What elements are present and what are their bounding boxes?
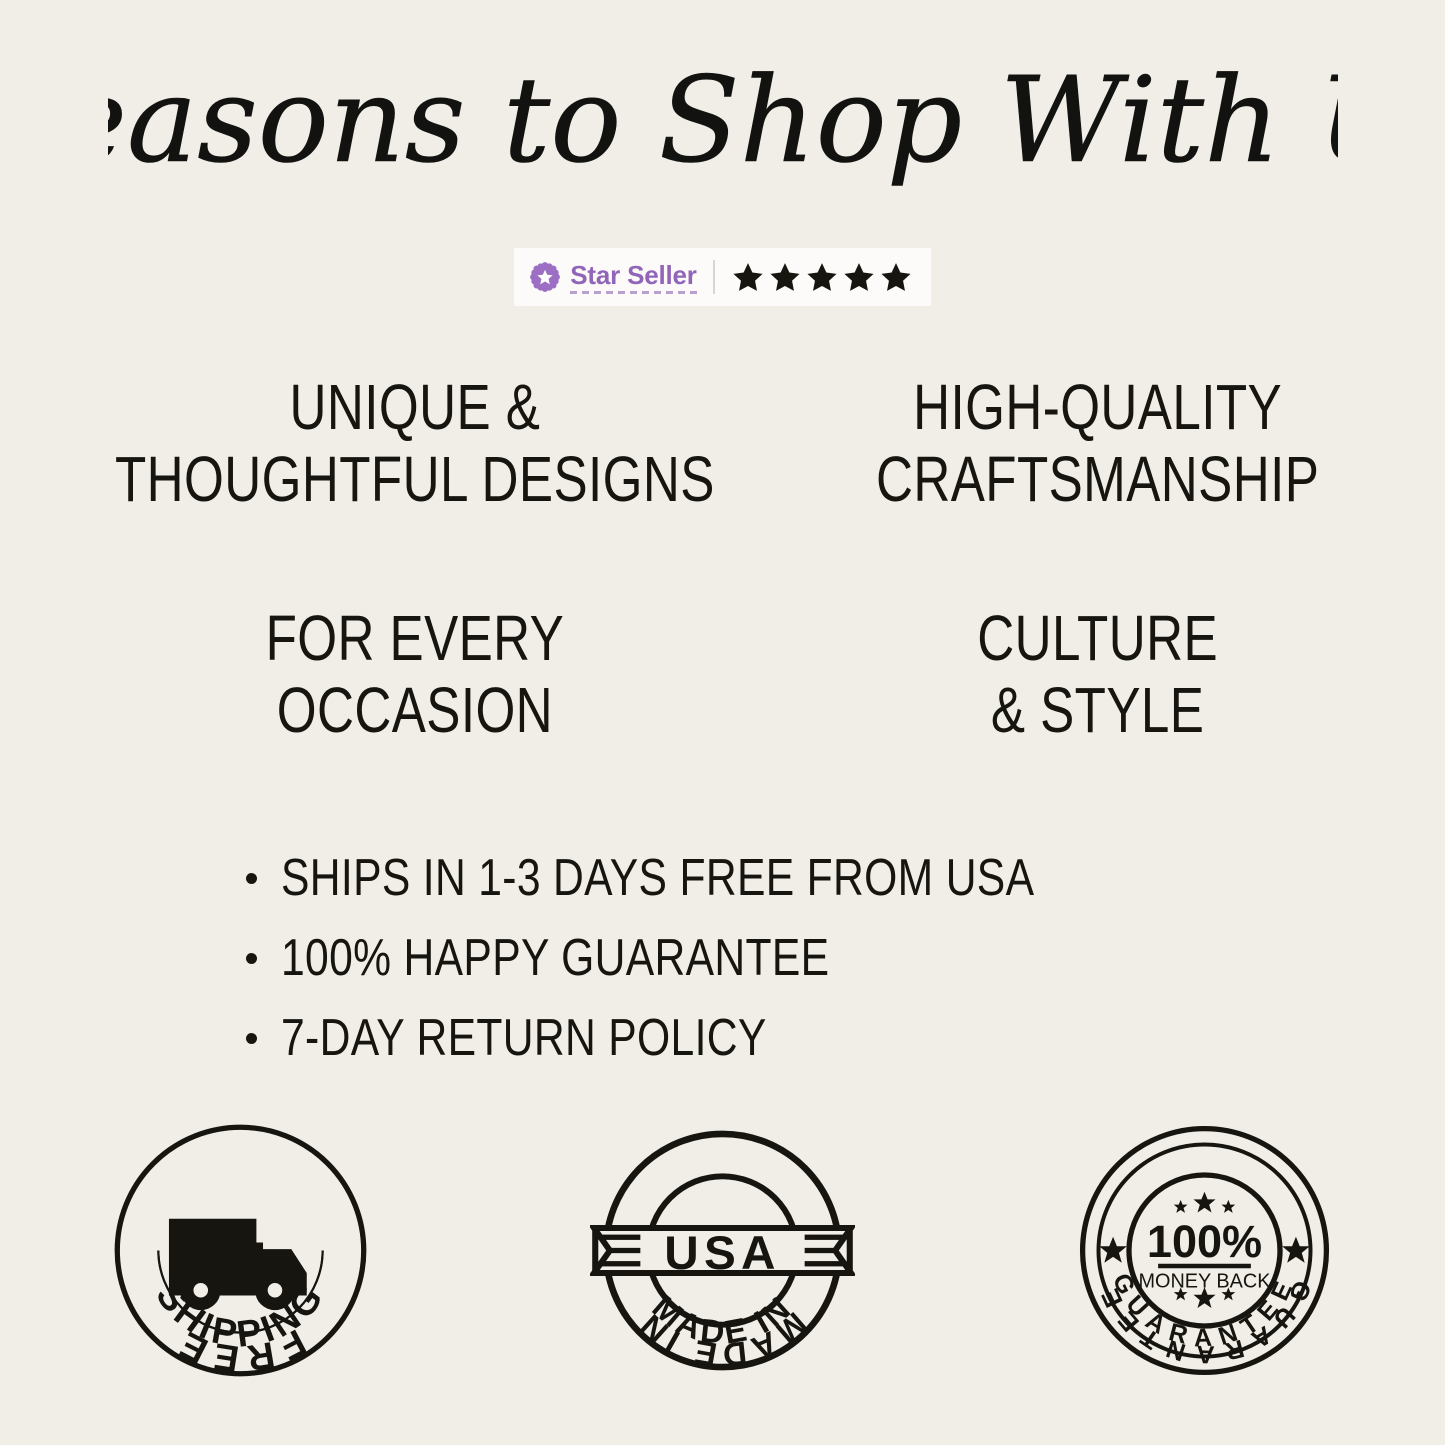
feature-line-2: OCCASION [115,675,715,747]
list-item-label: SHIPS IN 1-3 DAYS FREE FROM USA [281,848,1034,908]
benefits-list-wrap: SHIPS IN 1-3 DAYS FREE FROM USA100% HAPP… [0,848,1445,1068]
list-item: 7-DAY RETURN POLICY [246,1008,1200,1068]
usa-ribbon-label: USA [664,1227,781,1280]
rating-star [879,261,913,293]
rating-star [842,261,876,293]
star-seller-label-group: Star Seller [530,262,712,292]
made-in-usa-seal: MADE IN MADE IN USA [590,1118,855,1383]
trust-seals-row: FREE SHIPPING MADE IN MADE IN [0,1118,1445,1383]
rating-star [768,261,802,293]
rating-star [805,261,839,293]
feature-item: FOR EVERYOCCASION [115,603,715,746]
feature-item: HIGH-QUALITYCRAFTSMANSHIP [851,372,1343,515]
list-item-label: 100% HAPPY GUARANTEE [281,928,829,988]
delivery-truck-icon [169,1219,307,1310]
guarantee-rule [1158,1264,1251,1269]
usa-ribbon: USA [594,1227,851,1280]
guarantee-percent: 100% [1147,1216,1262,1267]
feature-line-2: THOUGHTFUL DESIGNS [115,444,715,516]
bullet-dot [246,1033,257,1044]
list-item: SHIPS IN 1-3 DAYS FREE FROM USA [246,848,1200,908]
list-item: 100% HAPPY GUARANTEE [246,928,1200,988]
star-seller-badge-strip: Star Seller [0,248,1445,306]
rating-stars [715,261,931,293]
made-in-usa-seal-slot: MADE IN MADE IN USA [572,1118,872,1383]
page-title: Reasons to Shop With Us [0,28,1445,218]
page-title-text: Reasons to Shop With Us [108,51,1338,189]
list-item-label: 7-DAY RETURN POLICY [281,1008,767,1068]
inner-stars-top [1173,1192,1234,1213]
free-shipping-seal-slot: FREE SHIPPING [91,1118,391,1383]
star-seller-label: Star Seller [570,262,696,292]
page-title-script: Reasons to Shop With Us [108,33,1338,213]
bullet-dot [246,873,257,884]
star-rosette-icon [530,262,560,292]
side-star-left [1099,1237,1127,1263]
side-star-right [1282,1237,1310,1263]
guarantee-subtext: MONEY BACK [1138,1271,1271,1293]
feature-item: CULTURE& STYLE [851,603,1343,746]
feature-grid: UNIQUE &THOUGHTFUL DESIGNSHIGH-QUALITYCR… [40,372,1405,747]
benefits-list: SHIPS IN 1-3 DAYS FREE FROM USA100% HAPP… [246,848,1200,1068]
feature-line-2: & STYLE [851,675,1343,747]
feature-item: UNIQUE &THOUGHTFUL DESIGNS [115,372,715,515]
feature-line-1: HIGH-QUALITY [851,372,1343,444]
guarantee-seal-slot: GUARANTEE GUARANTEE 100% MONEY BACK [1054,1118,1354,1383]
feature-line-1: UNIQUE & [115,372,715,444]
bullet-dot [246,953,257,964]
feature-line-1: CULTURE [851,603,1343,675]
star-seller-badge[interactable]: Star Seller [514,248,930,306]
feature-line-1: FOR EVERY [115,603,715,675]
money-back-guarantee-seal: GUARANTEE GUARANTEE 100% MONEY BACK [1072,1118,1337,1383]
free-shipping-seal: FREE SHIPPING [108,1118,373,1383]
rating-star [731,261,765,293]
feature-line-2: CRAFTSMANSHIP [851,444,1343,516]
